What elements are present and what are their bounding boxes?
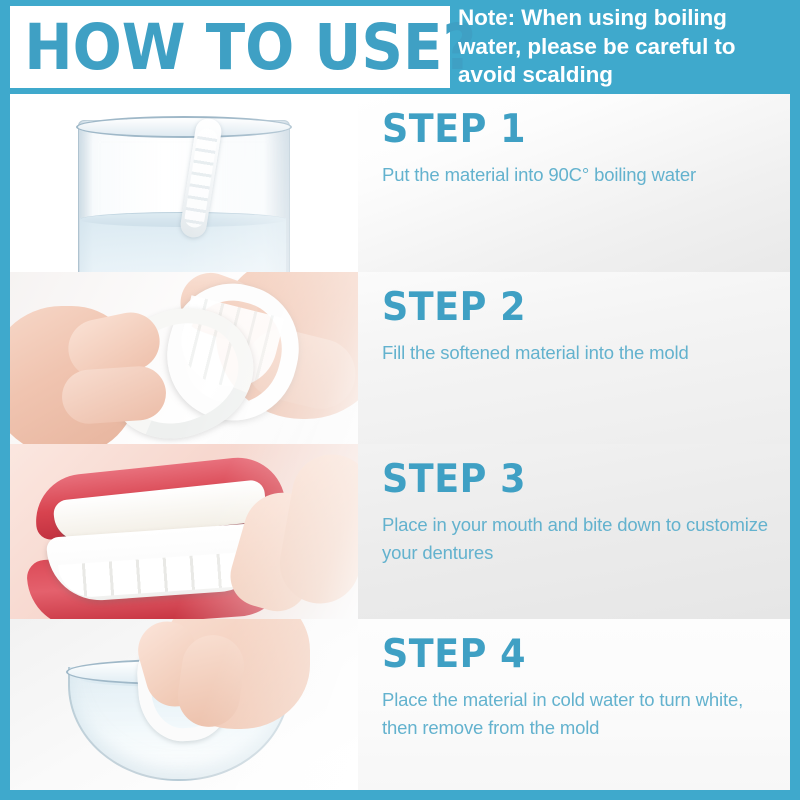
- steps-container: STEP 1 Put the material into 90C° boilin…: [10, 94, 790, 790]
- middle-finger-icon: [60, 364, 168, 425]
- step-2-text: STEP 2 Fill the softened material into t…: [358, 272, 790, 444]
- header-banner: HOW TO USE? Note: When using boiling wat…: [0, 0, 800, 94]
- glass-rim-icon: [76, 116, 292, 138]
- step-1-title: STEP 1: [382, 110, 790, 149]
- note-box: Note: When using boiling water, please b…: [458, 2, 796, 92]
- step-row-1: STEP 1 Put the material into 90C° boilin…: [10, 94, 790, 272]
- step-1-description: Put the material into 90C° boiling water: [382, 161, 782, 189]
- how-to-use-infographic: HOW TO USE? Note: When using boiling wat…: [0, 0, 800, 800]
- step-3-text: STEP 3 Place in your mouth and bite down…: [358, 444, 790, 619]
- step-row-4: STEP 4 Place the material in cold water …: [10, 619, 790, 790]
- step-1-text: STEP 1 Put the material into 90C° boilin…: [358, 94, 790, 272]
- step-1-photo: [10, 94, 358, 272]
- step-2-title: STEP 2: [382, 288, 790, 327]
- step-4-description: Place the material in cold water to turn…: [382, 686, 782, 742]
- step-4-title: STEP 4: [382, 635, 790, 674]
- title-box: HOW TO USE?: [10, 6, 450, 88]
- step-2-description: Fill the softened material into the mold: [382, 339, 782, 367]
- note-text: Note: When using boiling water, please b…: [458, 4, 796, 90]
- step-2-photo: [10, 272, 358, 444]
- step-3-photo: [10, 444, 358, 619]
- step-3-title: STEP 3: [382, 460, 790, 499]
- step-row-2: STEP 2 Fill the softened material into t…: [10, 272, 790, 444]
- step-3-description: Place in your mouth and bite down to cus…: [382, 511, 782, 567]
- page-title: HOW TO USE?: [10, 16, 476, 79]
- step-row-3: STEP 3 Place in your mouth and bite down…: [10, 444, 790, 619]
- step-4-text: STEP 4 Place the material in cold water …: [358, 619, 790, 790]
- step-4-photo: [10, 619, 358, 790]
